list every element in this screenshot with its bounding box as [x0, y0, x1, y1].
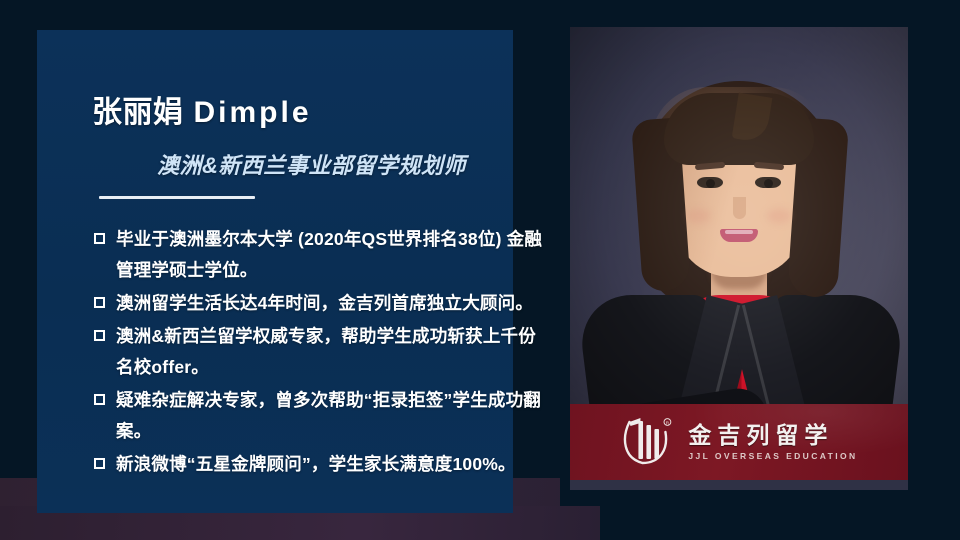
hollow-square-icon [94, 330, 105, 341]
hollow-square-icon [94, 394, 105, 405]
jjl-monogram-icon: R [620, 416, 674, 468]
brand-name-cn: 金吉列留学 [688, 423, 833, 447]
list-item: 毕业于澳洲墨尔本大学 (2020年QS世界排名38位) 金融管理学硕士学位。 [94, 224, 546, 286]
list-item: 新浪微博“五星金牌顾问”，学生家长满意度100%。 [94, 449, 546, 480]
list-item-text: 澳洲留学生活长达4年时间，金吉列首席独立大顾问。 [116, 288, 546, 319]
brand-logo-banner: R 金吉列留学 JJL OVERSEAS EDUCATION [570, 404, 908, 480]
person-name-en: Dimple [194, 96, 312, 129]
list-item: 澳洲留学生活长达4年时间，金吉列首席独立大顾问。 [94, 288, 546, 319]
brand-text: 金吉列留学 JJL OVERSEAS EDUCATION [688, 423, 857, 460]
hollow-square-icon [94, 297, 105, 308]
person-name-cn: 张丽娟 [92, 96, 184, 129]
brand-name-en: JJL OVERSEAS EDUCATION [688, 451, 857, 461]
list-item-text: 澳洲&新西兰留学权威专家，帮助学生成功斩获上千份名校offer。 [116, 321, 546, 383]
svg-text:R: R [666, 421, 670, 426]
brand-logo: R 金吉列留学 JJL OVERSEAS EDUCATION [620, 416, 857, 468]
list-item-text: 疑难杂症解决专家，曾多次帮助“拒录拒签”学生成功翻案。 [116, 385, 546, 447]
title-divider [99, 196, 255, 199]
list-item-text: 毕业于澳洲墨尔本大学 (2020年QS世界排名38位) 金融管理学硕士学位。 [116, 224, 546, 286]
list-item-text: 新浪微博“五星金牌顾问”，学生家长满意度100%。 [116, 449, 546, 480]
hollow-square-icon [94, 458, 105, 469]
person-title: 澳洲&新西兰事业部留学规划师 [157, 148, 466, 180]
photo-bottom-strip [570, 480, 908, 490]
profile-info-panel: 张丽娟Dimple 澳洲&新西兰事业部留学规划师 毕业于澳洲墨尔本大学 (202… [37, 30, 513, 513]
list-item: 疑难杂症解决专家，曾多次帮助“拒录拒签”学生成功翻案。 [94, 385, 546, 447]
hollow-square-icon [94, 233, 105, 244]
person-name: 张丽娟Dimple [92, 87, 312, 131]
credentials-list: 毕业于澳洲墨尔本大学 (2020年QS世界排名38位) 金融管理学硕士学位。 澳… [94, 224, 546, 482]
list-item: 澳洲&新西兰留学权威专家，帮助学生成功斩获上千份名校offer。 [94, 321, 546, 383]
slide-canvas: 张丽娟Dimple 澳洲&新西兰事业部留学规划师 毕业于澳洲墨尔本大学 (202… [0, 0, 960, 540]
